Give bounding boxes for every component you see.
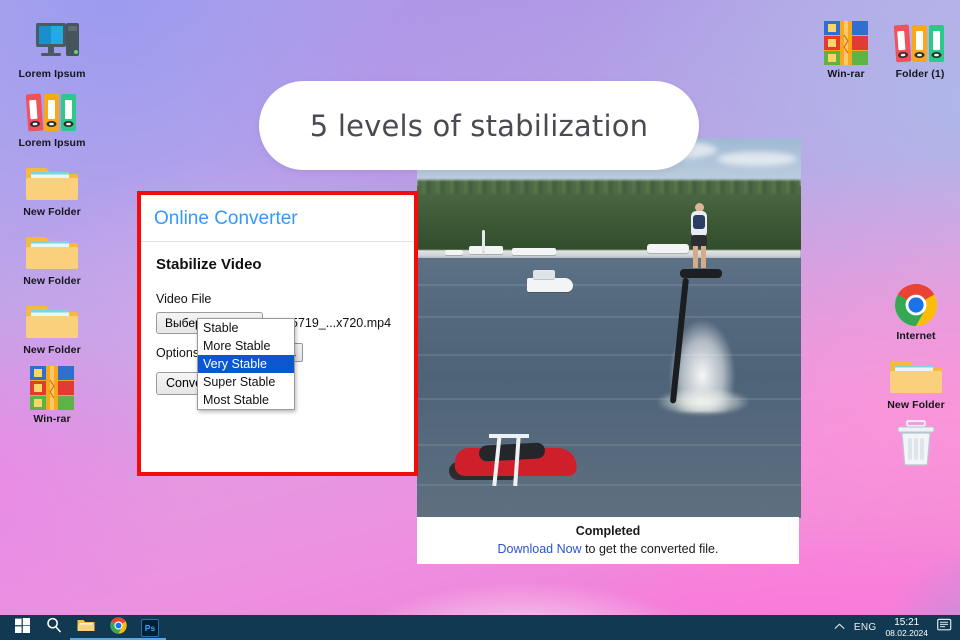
show-hidden-icons-chevron-up-icon[interactable]	[834, 622, 845, 633]
clock-date: 08.02.2024	[885, 628, 928, 638]
folder-icon	[890, 351, 942, 397]
desktop-icon-label: Internet	[896, 330, 935, 343]
clock[interactable]: 15:21 08.02.2024	[885, 618, 928, 638]
folder-icon	[26, 227, 78, 273]
desktop-icon-internet[interactable]: Internet	[868, 282, 960, 350]
file-explorer-button[interactable]	[70, 615, 102, 640]
desktop-icon-label: New Folder	[23, 275, 81, 288]
search-icon	[46, 617, 62, 638]
option-super-stable[interactable]: Super Stable	[198, 373, 294, 391]
cloud	[717, 152, 797, 166]
online-converter-dialog: Online Converter Stabilize Video Video F…	[137, 191, 418, 476]
computer-icon	[20, 20, 84, 66]
clock-time: 15:21	[894, 618, 919, 628]
search-button[interactable]	[38, 615, 70, 640]
flyboard-rider	[685, 205, 713, 273]
option-most-stable[interactable]: Most Stable	[198, 391, 294, 409]
desktop-icon-winrar-right[interactable]: Win-rar	[816, 20, 876, 88]
download-line: Download Now to get the converted file.	[498, 540, 719, 559]
desktop-icon-lorem-ipsum-computer[interactable]: Lorem Ipsum	[4, 20, 100, 88]
page-title: 5 levels of stabilization	[310, 109, 649, 143]
winrar-icon	[824, 20, 868, 66]
jet-ski	[449, 434, 579, 482]
desktop-icon-lorem-ipsum-binders[interactable]: Lorem Ipsum	[4, 89, 100, 157]
distant-boat	[445, 250, 463, 255]
binders-icon	[892, 20, 948, 66]
taskbar: Ps ENG 15:21 08.02.2024	[0, 615, 960, 640]
converter-brand-title: Online Converter	[141, 195, 414, 242]
chrome-icon	[110, 617, 127, 639]
converter-body: Stabilize Video Video File Выберите файл…	[141, 242, 414, 395]
sailboat-mast	[482, 230, 485, 252]
language-indicator[interactable]: ENG	[854, 622, 877, 633]
option-very-stable[interactable]: Very Stable	[198, 355, 294, 373]
video-frame	[417, 138, 801, 518]
converter-heading: Stabilize Video	[156, 256, 414, 273]
chrome-icon	[894, 282, 938, 328]
winrar-icon	[30, 365, 74, 411]
distant-boat	[469, 246, 503, 254]
desktop-icon-recycle-bin[interactable]	[868, 420, 960, 488]
chrome-button[interactable]	[102, 615, 134, 640]
windows-icon	[15, 618, 30, 638]
desktop-icon-winrar-left[interactable]: Win-rar	[4, 365, 100, 433]
photoshop-button[interactable]: Ps	[134, 615, 166, 640]
desktop-icons-left: Lorem Ipsum	[4, 20, 100, 434]
water-splash	[643, 384, 763, 420]
distant-boat	[512, 248, 556, 255]
option-more-stable[interactable]: More Stable	[198, 337, 294, 355]
desktop-icon-label: Folder (1)	[896, 68, 945, 81]
download-suffix-text: to get the converted file.	[582, 542, 719, 556]
photoshop-icon: Ps	[141, 619, 159, 637]
folder-icon	[26, 296, 78, 342]
distant-boat	[647, 244, 689, 253]
folder-icon	[77, 618, 95, 638]
desktop-icon-label: Lorem Ipsum	[18, 137, 85, 150]
desktop-icon-label: New Folder	[23, 344, 81, 357]
download-now-link[interactable]: Download Now	[498, 542, 582, 556]
binders-icon	[24, 89, 80, 135]
desktop-icon-label: New Folder	[23, 206, 81, 219]
desktop-icon-new-folder-3[interactable]: New Folder	[4, 296, 100, 364]
recycle-bin-icon	[894, 420, 938, 466]
desktop-icons-top-right: Win-rar	[816, 20, 952, 89]
motorboat	[527, 278, 573, 292]
option-stable[interactable]: Stable	[198, 319, 294, 337]
desktop-icon-label: Win-rar	[33, 413, 70, 426]
desktop-icon-label: Win-rar	[827, 68, 864, 81]
taskbar-system-tray: ENG 15:21 08.02.2024	[834, 618, 960, 638]
options-label: Options	[156, 346, 199, 360]
status-completed-text: Completed	[576, 523, 641, 540]
desktop-icons-right: Internet New Folder	[868, 282, 960, 489]
desktop-icon-new-folder-1[interactable]: New Folder	[4, 158, 100, 226]
video-preview[interactable]	[417, 138, 801, 518]
desktop-icon-label: New Folder	[887, 399, 945, 412]
notifications-icon[interactable]	[937, 618, 952, 637]
desktop-icon-label: Lorem Ipsum	[18, 68, 85, 81]
video-file-label: Video File	[156, 292, 414, 306]
desktop-icon-new-folder-2[interactable]: New Folder	[4, 227, 100, 295]
taskbar-left-group: Ps	[0, 615, 166, 640]
folder-icon	[26, 158, 78, 204]
motorboat-canopy	[533, 270, 555, 279]
desktop-icon-folder-1[interactable]: Folder (1)	[888, 20, 952, 88]
start-button[interactable]	[6, 615, 38, 640]
options-dropdown-list[interactable]: Stable More Stable Very Stable Super Sta…	[197, 318, 295, 410]
desktop-icon-new-folder-right[interactable]: New Folder	[868, 351, 960, 419]
conversion-status-panel: Completed Download Now to get the conver…	[417, 517, 799, 564]
banner-title-pill: 5 levels of stabilization	[259, 81, 699, 170]
